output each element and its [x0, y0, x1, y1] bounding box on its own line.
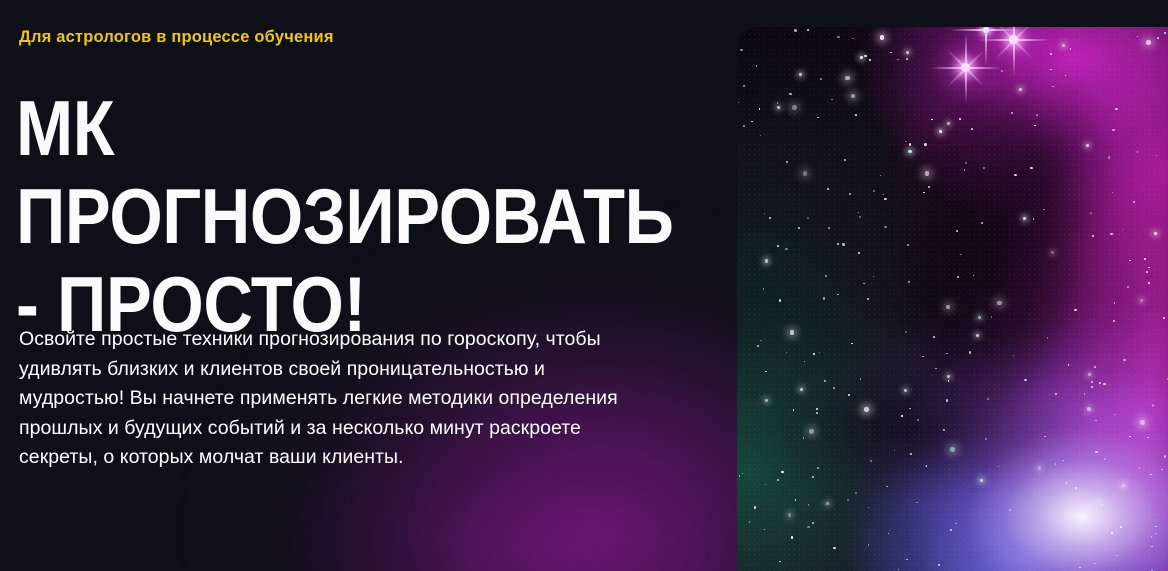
star [1050, 53, 1052, 55]
star [1075, 487, 1077, 489]
star [935, 368, 937, 370]
star [809, 429, 814, 434]
star [897, 59, 899, 61]
star [851, 94, 856, 99]
star [1137, 151, 1139, 153]
star [884, 226, 886, 228]
star [886, 486, 888, 488]
bright-star-2 [1009, 35, 1018, 44]
star [873, 190, 875, 192]
star [925, 171, 930, 176]
star [973, 275, 975, 277]
star [922, 356, 924, 358]
star [981, 222, 983, 224]
star [1090, 212, 1092, 214]
hero-eyebrow: Для астрологов в процессе обучения [19, 27, 334, 47]
star [1114, 302, 1116, 304]
star [925, 466, 927, 468]
star [1011, 112, 1013, 114]
star [957, 276, 959, 278]
star [858, 252, 860, 254]
star [880, 175, 882, 177]
star [777, 479, 779, 481]
star [851, 343, 853, 345]
hero-text-column: Для астрологов в процессе обучения МК ПР… [19, 0, 719, 571]
star [1077, 496, 1079, 498]
star [764, 213, 766, 215]
star [803, 171, 808, 176]
star [923, 192, 925, 194]
star [1144, 258, 1146, 260]
star [1150, 474, 1152, 476]
star [976, 334, 979, 337]
star [808, 504, 810, 506]
star [794, 29, 796, 31]
star [792, 105, 797, 110]
star [833, 547, 835, 549]
star [816, 408, 818, 410]
star [769, 217, 771, 219]
hero-headline: МК ПРОГНОЗИРОВАТЬ - ПРОСТО! [16, 84, 650, 348]
star [1034, 125, 1036, 127]
star [948, 380, 950, 382]
star [824, 380, 826, 382]
star [845, 76, 850, 81]
star [847, 499, 849, 501]
star [1051, 251, 1054, 254]
star [950, 447, 955, 452]
star [844, 159, 846, 161]
star [1103, 383, 1105, 385]
star [969, 351, 971, 353]
star [1050, 69, 1052, 71]
star [860, 378, 862, 380]
star [965, 162, 967, 164]
star [820, 78, 822, 80]
star [812, 522, 814, 524]
star [1155, 526, 1157, 528]
star [789, 93, 791, 95]
star [842, 243, 844, 245]
bright-star-3 [983, 27, 989, 33]
star [908, 281, 910, 283]
star [1068, 364, 1070, 366]
star [1098, 500, 1101, 503]
star [956, 230, 958, 232]
star [743, 85, 745, 87]
star [831, 99, 833, 101]
star [1163, 317, 1165, 319]
star [916, 502, 918, 504]
star [825, 275, 827, 277]
star [950, 529, 952, 531]
star [1152, 404, 1154, 406]
star [1033, 218, 1035, 220]
star [873, 276, 875, 278]
star [777, 106, 780, 109]
star [1110, 233, 1112, 235]
star [906, 559, 908, 561]
star [813, 353, 815, 355]
star [868, 507, 870, 509]
star [833, 387, 835, 389]
star [1129, 260, 1131, 262]
star [1148, 267, 1150, 269]
star [1094, 366, 1096, 368]
star [1052, 86, 1054, 88]
star [1157, 37, 1159, 39]
star [1146, 40, 1151, 45]
star [978, 316, 981, 319]
star [1139, 467, 1141, 469]
star [1111, 532, 1113, 534]
bright-star-1 [961, 63, 970, 72]
star [743, 125, 745, 127]
star [947, 122, 950, 125]
star [799, 73, 802, 76]
star [946, 353, 948, 355]
star [754, 506, 756, 508]
star [781, 471, 783, 473]
star [1030, 167, 1032, 169]
star [928, 186, 930, 188]
star [786, 161, 788, 163]
star [1113, 320, 1115, 322]
star [909, 143, 911, 145]
star [1014, 174, 1016, 176]
star [1148, 282, 1150, 284]
star [863, 283, 865, 285]
star [756, 65, 758, 67]
star [894, 450, 896, 452]
star [959, 118, 961, 120]
star [910, 453, 912, 455]
star [906, 58, 908, 60]
star [1070, 48, 1072, 50]
star [1094, 563, 1096, 565]
star [764, 529, 766, 531]
star [864, 407, 869, 412]
star [983, 167, 985, 169]
star [807, 217, 809, 219]
star [987, 398, 989, 400]
star [785, 248, 787, 250]
star [765, 259, 768, 262]
star [1112, 129, 1114, 131]
star [1164, 455, 1166, 457]
star [1091, 381, 1093, 383]
star [1140, 420, 1145, 425]
star [890, 52, 892, 54]
star [1151, 536, 1153, 538]
star [1019, 88, 1022, 91]
star [1092, 235, 1094, 237]
star [1122, 484, 1125, 487]
star [823, 297, 825, 299]
star [849, 193, 851, 195]
star [1079, 567, 1081, 569]
star [1055, 393, 1057, 395]
star [837, 294, 839, 296]
star [1095, 451, 1097, 453]
star [1099, 382, 1101, 384]
hero-description: Освойте простые техники прогнозирования … [19, 325, 619, 473]
star [1123, 359, 1125, 361]
star [938, 564, 940, 566]
star [1137, 36, 1139, 38]
star [1155, 533, 1157, 535]
star [765, 399, 768, 402]
star [786, 352, 788, 354]
star [855, 492, 857, 494]
star [1129, 436, 1131, 438]
star [751, 121, 753, 123]
star [798, 227, 800, 229]
star [819, 352, 821, 354]
star [757, 345, 759, 347]
star [1161, 469, 1163, 471]
star [1062, 460, 1064, 462]
star [793, 409, 795, 411]
star [905, 141, 907, 143]
star [828, 227, 830, 229]
star [817, 467, 819, 469]
star [1104, 458, 1106, 460]
star [898, 569, 900, 571]
star [860, 56, 863, 59]
star [943, 429, 945, 431]
star [998, 466, 1000, 468]
star [804, 361, 806, 363]
star [1101, 504, 1103, 506]
star [971, 128, 973, 130]
star [883, 194, 885, 196]
star [788, 513, 791, 516]
star [816, 412, 818, 414]
star [1164, 32, 1166, 34]
star [946, 305, 951, 310]
star [777, 102, 779, 104]
star [1009, 509, 1011, 511]
star [777, 245, 779, 247]
star [946, 399, 948, 401]
star [1062, 44, 1065, 47]
star [1047, 337, 1049, 339]
star [1065, 75, 1067, 77]
star [790, 330, 795, 335]
star [939, 130, 942, 133]
star [740, 49, 742, 51]
star [1044, 436, 1046, 438]
star [826, 502, 829, 505]
star [960, 254, 962, 256]
star [904, 389, 907, 392]
star [1133, 201, 1135, 203]
star [827, 188, 829, 190]
star [1151, 546, 1153, 548]
star [906, 51, 909, 54]
star [739, 475, 741, 477]
star [848, 394, 850, 396]
star [1088, 373, 1091, 376]
star [738, 102, 740, 104]
star [964, 169, 966, 171]
star [817, 117, 819, 119]
star [980, 479, 983, 482]
star [1043, 209, 1045, 211]
star [1038, 466, 1041, 469]
star [1091, 386, 1093, 388]
star [1116, 555, 1118, 557]
star [859, 216, 861, 218]
star [760, 340, 762, 342]
star [837, 36, 839, 38]
star [1087, 407, 1090, 410]
star [868, 544, 870, 546]
star [1036, 114, 1038, 116]
star [917, 419, 919, 421]
hero-nebula-image [737, 27, 1168, 571]
star [812, 476, 814, 478]
star [985, 438, 987, 440]
star [869, 59, 871, 61]
star [1066, 482, 1068, 484]
star [779, 299, 781, 301]
star [760, 135, 762, 137]
star [1146, 271, 1148, 273]
star [1154, 232, 1157, 235]
star [884, 198, 886, 200]
star [858, 212, 860, 214]
star [1114, 414, 1116, 416]
star [1001, 70, 1003, 72]
star [867, 298, 869, 300]
star [1140, 299, 1143, 302]
star [765, 484, 767, 486]
star [852, 38, 854, 40]
star [763, 288, 765, 290]
star [800, 388, 803, 391]
star [759, 108, 761, 110]
star [1095, 420, 1097, 422]
star [779, 561, 781, 563]
star [1074, 309, 1076, 311]
star [991, 316, 993, 318]
star [807, 526, 809, 528]
star [837, 243, 839, 245]
star [1024, 379, 1026, 381]
star [1084, 393, 1086, 395]
star [955, 523, 957, 525]
star [909, 408, 911, 410]
star [807, 29, 809, 31]
star [933, 336, 935, 338]
star [1055, 463, 1057, 465]
star [880, 35, 885, 40]
star [1120, 526, 1122, 528]
star-field [737, 27, 1168, 571]
star [1013, 355, 1015, 357]
star [795, 499, 797, 501]
star [908, 150, 911, 153]
star [1086, 144, 1089, 147]
star [765, 371, 767, 373]
star [803, 437, 805, 439]
hero-section: Для астрологов в процессе обучения МК ПР… [0, 0, 1168, 571]
star [1127, 286, 1129, 288]
star [864, 55, 866, 57]
star [905, 331, 907, 333]
star [742, 473, 744, 475]
star [1023, 217, 1026, 220]
star [749, 521, 751, 523]
star [931, 119, 933, 121]
star [1156, 155, 1158, 157]
star [888, 533, 890, 535]
star [907, 244, 909, 246]
star [901, 415, 903, 417]
star [870, 460, 872, 462]
star [1122, 229, 1124, 231]
star [1115, 108, 1117, 110]
star [1108, 156, 1110, 158]
star [997, 301, 1002, 306]
star [855, 114, 857, 116]
star [947, 375, 950, 378]
star [791, 536, 793, 538]
star [1112, 192, 1114, 194]
star [1147, 437, 1149, 439]
